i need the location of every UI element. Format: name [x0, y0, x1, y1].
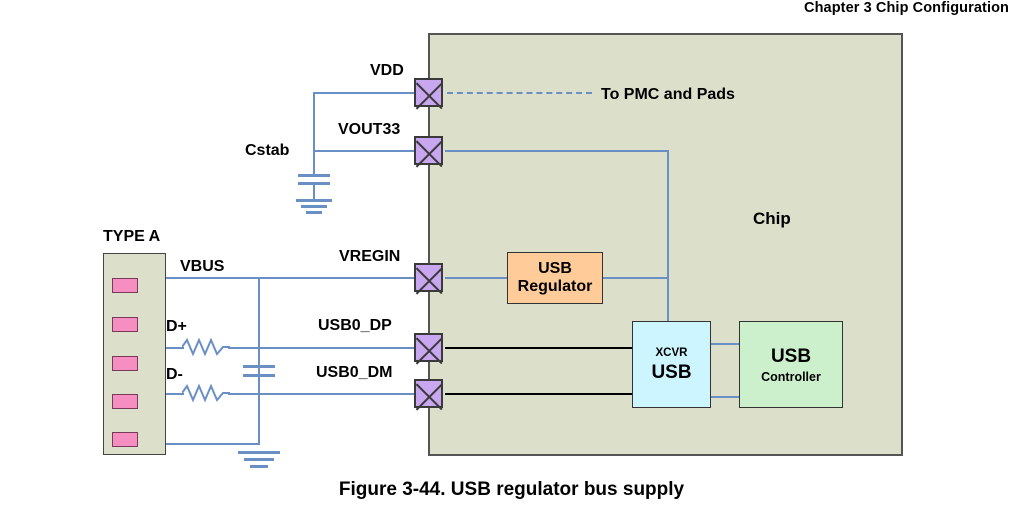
wire-vout33-inside-chip	[445, 150, 669, 152]
signal-label-dplus: D+	[166, 318, 187, 336]
wire-cstab-vertical-bus	[313, 92, 315, 152]
signal-label-vbus: VBUS	[180, 258, 224, 276]
main-ground-bar-2	[244, 458, 274, 461]
cstab-label: Cstab	[245, 142, 289, 160]
wire-usb0dm-to-xcvr	[445, 393, 633, 395]
usb-xcvr-line2: USB	[651, 361, 691, 385]
type-a-connector	[103, 253, 166, 455]
pin-label-vdd: VDD	[370, 62, 404, 80]
wire-xcvr-to-controller-bottom	[710, 396, 740, 398]
wire-vregin-external	[166, 277, 423, 279]
pin-label-usb0-dm: USB0_DM	[316, 364, 392, 382]
main-ground-bar-3	[250, 465, 268, 468]
wire-usb0dp-to-xcvr	[445, 347, 633, 349]
wire-vout33-down	[667, 150, 669, 321]
usb-xcvr-block[interactable]: XCVR USB	[632, 321, 711, 408]
signal-label-dminus: D-	[166, 366, 183, 384]
pin-label-usb0-dp: USB0_DP	[318, 317, 392, 335]
pin-label-vregin: VREGIN	[339, 248, 400, 266]
connector-pin-2	[112, 317, 138, 332]
connector-pin-5	[112, 432, 138, 447]
to-pmc-and-pads-label: To PMC and Pads	[601, 86, 735, 104]
wire-vdd-horizontal	[313, 92, 423, 94]
wire-cstab-to-ground	[313, 185, 315, 199]
connector-pin-1	[112, 278, 138, 293]
connector-pin-4	[112, 394, 138, 409]
wire-dplus-to-pad	[228, 347, 423, 349]
wire-xcvr-to-controller-top	[710, 343, 740, 345]
cstab-ground-bar-2	[301, 205, 327, 208]
cstab-ground-bar-3	[306, 211, 322, 214]
resistor-dplus	[182, 336, 230, 358]
cstab-ground-bar-1	[296, 199, 332, 202]
pad-vregin[interactable]	[414, 263, 443, 292]
main-ground-bar-1	[238, 451, 280, 454]
pad-vout33[interactable]	[414, 136, 443, 165]
connector-pin-3	[112, 356, 138, 371]
wire-vout33-left	[313, 150, 423, 152]
vbus-cap-plate-top	[243, 365, 275, 368]
page-header: Chapter 3 Chip Configuration	[804, 0, 1009, 16]
wire-vregin-to-regulator	[445, 277, 509, 279]
figure-canvas: Chapter 3 Chip Configuration Chip	[0, 0, 1023, 532]
usb-controller-line2: Controller	[761, 369, 821, 385]
wire-regulator-output	[601, 277, 669, 279]
usb-regulator-line1: USB	[538, 260, 572, 278]
wire-dminus-to-pad	[228, 393, 423, 395]
figure-caption: Figure 3-44. USB regulator bus supply	[0, 479, 1023, 501]
resistor-dminus	[182, 382, 230, 404]
chip-label: Chip	[753, 209, 791, 229]
usb-controller-block[interactable]: USB Controller	[739, 321, 843, 408]
connector-title: TYPE A	[103, 228, 160, 246]
usb-regulator-block[interactable]: USB Regulator	[507, 252, 603, 304]
usb-regulator-line2: Regulator	[518, 278, 593, 296]
wire-vbus-vertical	[258, 277, 260, 445]
cstab-plate-top	[298, 174, 330, 177]
wire-vdd-to-pmc-dashed	[447, 92, 592, 94]
vbus-cap-plate-bottom	[243, 374, 275, 377]
usb-xcvr-line1: XCVR	[656, 345, 688, 361]
pin-label-vout33: VOUT33	[338, 121, 400, 139]
usb-controller-line1: USB	[771, 345, 811, 369]
wire-shield-to-ground	[166, 443, 260, 445]
pad-usb0-dp[interactable]	[414, 333, 443, 362]
pad-usb0-dm[interactable]	[414, 379, 443, 408]
wire-cstab-drop	[313, 152, 315, 174]
pad-vdd[interactable]	[414, 78, 443, 107]
